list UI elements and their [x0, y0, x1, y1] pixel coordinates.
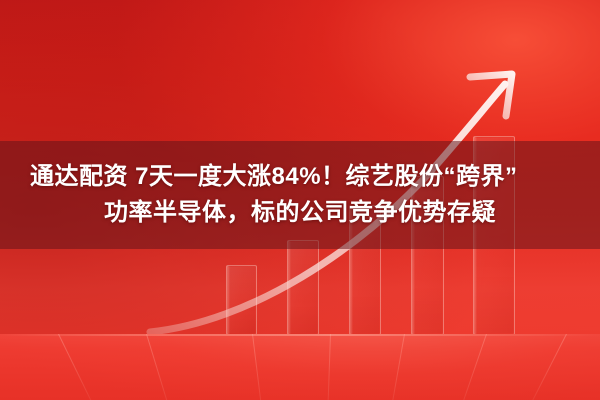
bar-2: [287, 240, 319, 335]
floor-perspective-line: [252, 334, 264, 400]
bar-1: [226, 265, 257, 335]
floor-perspective-line: [456, 334, 487, 400]
floor-perspective-line: [146, 334, 174, 400]
ground-plane: [0, 334, 600, 400]
headline: 通达配资 7天一度大涨84%！综艺股份“跨界” 功率半导体，标的公司竞争优势存疑: [0, 141, 600, 249]
headline-line-2: 功率半导体，标的公司竞争优势存疑: [104, 198, 496, 229]
floor-perspective-line: [58, 334, 99, 400]
floor-perspective-line: [327, 334, 331, 400]
floor-perspective-line: [388, 334, 405, 400]
headline-line-1: 通达配资 7天一度大涨84%！综艺股份“跨界”: [30, 162, 518, 193]
banner-image: 通达配资 7天一度大涨84%！综艺股份“跨界” 功率半导体，标的公司竞争优势存疑: [0, 0, 600, 400]
floor-perspective-line: [524, 334, 567, 400]
